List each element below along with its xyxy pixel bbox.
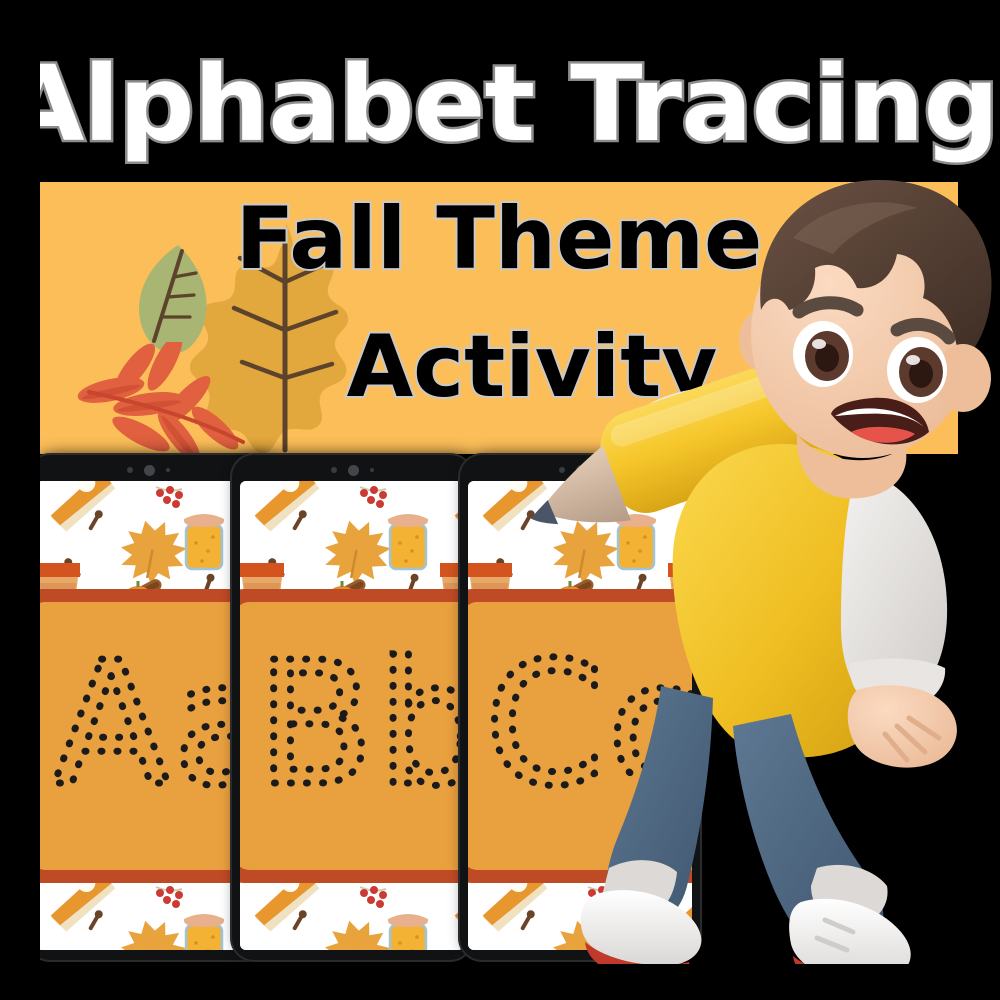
page-title: Alphabet Tracing bbox=[2, 52, 998, 156]
camera-dot-icon bbox=[559, 467, 565, 473]
tablet-mockup-group: Aa bbox=[0, 455, 1000, 965]
camera-lens-icon bbox=[348, 465, 359, 476]
camera-dot-icon bbox=[331, 467, 337, 473]
left-black-margin bbox=[0, 0, 40, 1000]
tracing-card-2[interactable]: Bb bbox=[240, 589, 464, 883]
tablet-screen-2[interactable]: Bb bbox=[240, 481, 464, 950]
poster-title: Alphabet Tracing bbox=[0, 44, 1000, 164]
tablet-device-2[interactable]: Bb bbox=[232, 455, 472, 960]
camera-lens-icon bbox=[144, 465, 155, 476]
tracing-card-inner-2: Bb bbox=[240, 602, 464, 870]
camera-cluster bbox=[232, 463, 472, 477]
svg-text:Aa: Aa bbox=[53, 626, 260, 824]
banner-line-1: Fall Theme bbox=[236, 196, 763, 282]
svg-text:Cc: Cc bbox=[485, 626, 692, 824]
tracing-card-3[interactable]: Cc bbox=[468, 589, 692, 883]
tablet-device-3[interactable]: Cc bbox=[460, 455, 700, 960]
camera-cluster bbox=[460, 463, 700, 477]
sensor-dot-icon bbox=[598, 468, 602, 472]
camera-lens-icon bbox=[576, 465, 587, 476]
banner-line-2: Activity bbox=[347, 324, 718, 410]
sensor-dot-icon bbox=[166, 468, 170, 472]
tracing-card-inner-1: Aa bbox=[36, 602, 260, 870]
sensor-dot-icon bbox=[370, 468, 374, 472]
camera-dot-icon bbox=[127, 467, 133, 473]
trace-letter-bb: Bb bbox=[253, 651, 464, 821]
tablet-screen-3[interactable]: Cc bbox=[468, 481, 692, 950]
fall-theme-banner: Fall Theme Activity bbox=[40, 182, 958, 454]
trace-letter-cc: Cc bbox=[481, 651, 692, 821]
bottom-black-margin bbox=[0, 964, 1000, 1000]
tracing-card-1[interactable]: Aa bbox=[36, 589, 260, 883]
tracing-card-inner-3: Cc bbox=[468, 602, 692, 870]
tablet-screen-1[interactable]: Aa bbox=[36, 481, 260, 950]
trace-letter-aa: Aa bbox=[49, 651, 260, 821]
poster-canvas: Alphabet Tracing bbox=[0, 0, 1000, 1000]
svg-text:Bb: Bb bbox=[257, 626, 464, 824]
